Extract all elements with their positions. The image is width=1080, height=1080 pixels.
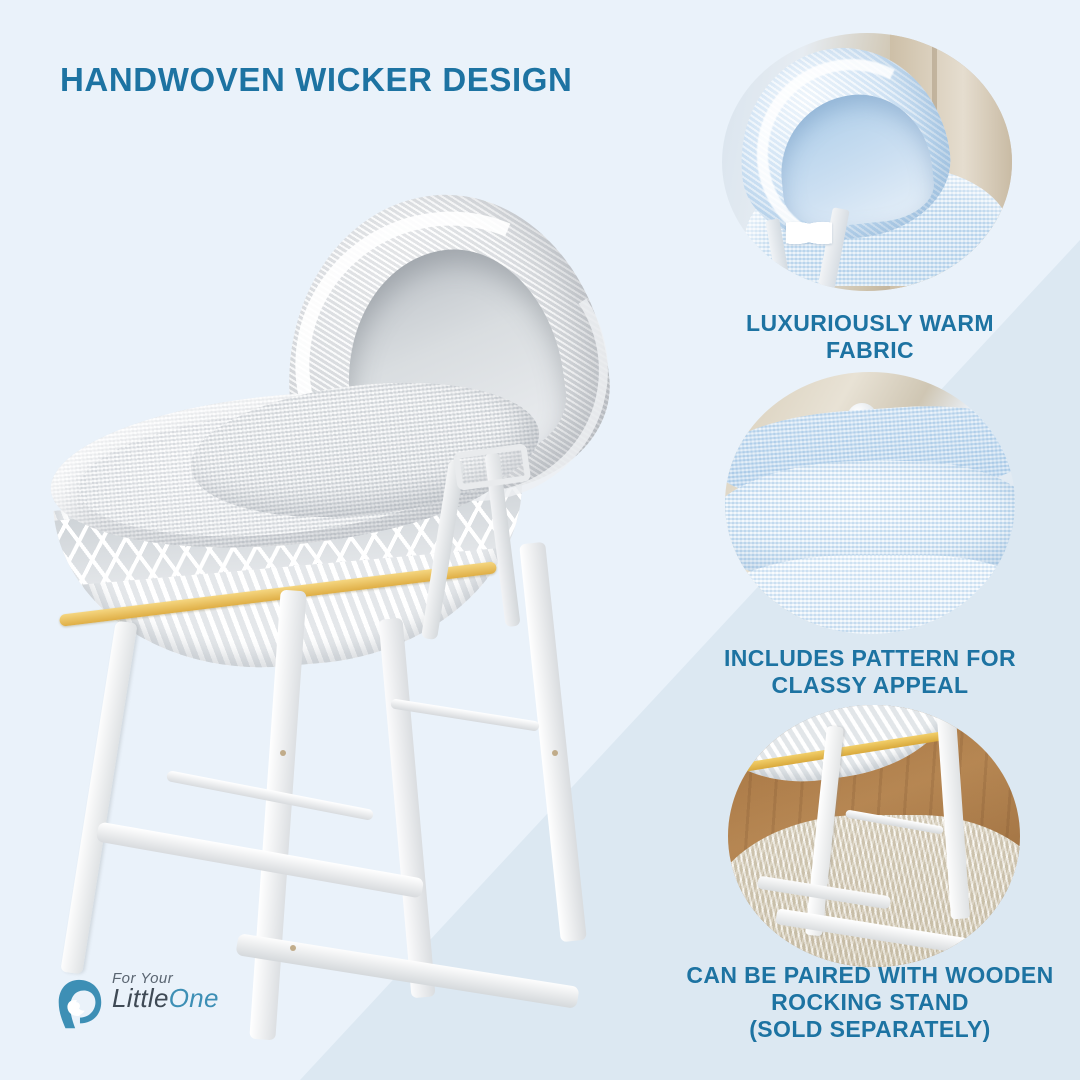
hero-product-image	[40, 190, 640, 990]
feature-caption-3-line3: (SOLD SEPARATELY)	[645, 1016, 1080, 1043]
feature-caption-2-line2: CLASSY APPEAL	[650, 672, 1080, 699]
feature-image-1	[722, 33, 1012, 291]
stand-dowel-upper	[390, 698, 540, 731]
blue-waffle-sheet	[725, 555, 1015, 634]
page-title: HANDWOVEN WICKER DESIGN	[60, 62, 572, 98]
product-feature-graphic: HANDWOVEN WICKER DESIGN	[0, 0, 1080, 1080]
brand-logo-one: One	[169, 983, 219, 1013]
feature-caption-2-line1: INCLUDES PATTERN FOR	[650, 645, 1080, 672]
feature-caption-3-line1: CAN BE PAIRED WITH WOODEN	[645, 962, 1080, 989]
white-ribbon-bow	[786, 216, 832, 250]
stand-leg-rear-right	[519, 542, 587, 943]
mother-and-baby-icon	[50, 976, 108, 1034]
feature-caption-3-line2: ROCKING STAND	[645, 989, 1080, 1016]
stand-screw	[280, 750, 286, 756]
feature-caption-3: CAN BE PAIRED WITH WOODEN ROCKING STAND …	[645, 962, 1080, 1043]
feature-caption-1: LUXURIOUSLY WARM FABRIC	[660, 310, 1080, 364]
brand-logo-line2: LittleOne	[112, 983, 242, 1014]
stand-screw	[552, 750, 558, 756]
feature-caption-2: INCLUDES PATTERN FOR CLASSY APPEAL	[650, 645, 1080, 699]
feature-image-3	[728, 705, 1020, 967]
feature-caption-1-line2: FABRIC	[660, 337, 1080, 364]
brand-logo: For Your LittleOne	[50, 968, 230, 1046]
feature-caption-1-line1: LUXURIOUSLY WARM	[660, 310, 1080, 337]
stand-leg-front-right	[378, 618, 435, 999]
stand-screw	[290, 945, 296, 951]
brand-logo-little: Little	[112, 983, 169, 1013]
feature-image-2	[725, 372, 1015, 634]
brand-logo-text: For Your LittleOne	[112, 970, 242, 1014]
stand-leg-rear-left	[60, 621, 137, 975]
